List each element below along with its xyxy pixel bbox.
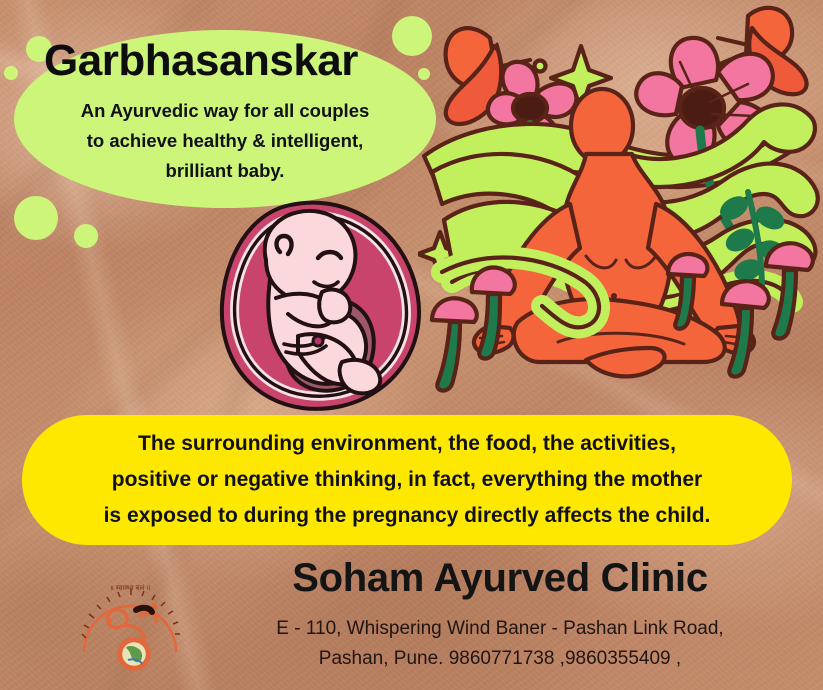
- subtitle-line: An Ayurvedic way for all couples: [30, 96, 420, 126]
- green-bubble: [74, 224, 98, 248]
- banner-line: The surrounding environment, the food, t…: [138, 426, 676, 462]
- address-line: Pashan, Pune. 9860771738 ,9860355409 ,: [190, 644, 810, 674]
- poster-subtitle: An Ayurvedic way for all couples to achi…: [30, 96, 420, 186]
- green-bubble: [4, 66, 18, 80]
- clinic-name: Soham Ayurved Clinic: [200, 556, 800, 601]
- green-bubble: [392, 16, 432, 56]
- logo-arc-text: ॥ स्वास्थ्य बलं ॥: [110, 584, 151, 592]
- banner-line: is exposed to during the pregnancy direc…: [104, 498, 711, 534]
- green-bubble: [14, 196, 58, 240]
- subtitle-line: to achieve healthy & intelligent,: [30, 126, 420, 156]
- poster-title: Garbhasanskar: [44, 36, 358, 86]
- address-line: E - 110, Whispering Wind Baner - Pashan …: [190, 614, 810, 644]
- garbhasanskar-poster: Garbhasanskar An Ayurvedic way for all c…: [0, 0, 823, 690]
- banner-line: positive or negative thinking, in fact, …: [112, 462, 702, 498]
- clinic-logo: ॥ स्वास्थ्य बलं ॥: [74, 576, 186, 680]
- clinic-address: E - 110, Whispering Wind Baner - Pashan …: [190, 614, 810, 674]
- subtitle-line: brilliant baby.: [30, 156, 420, 186]
- meditating-woman-illustration: [418, 4, 823, 414]
- green-bubble: [418, 68, 430, 80]
- banner-message-text: The surrounding environment, the food, t…: [22, 418, 792, 542]
- fetus-in-womb-illustration: [214, 196, 430, 418]
